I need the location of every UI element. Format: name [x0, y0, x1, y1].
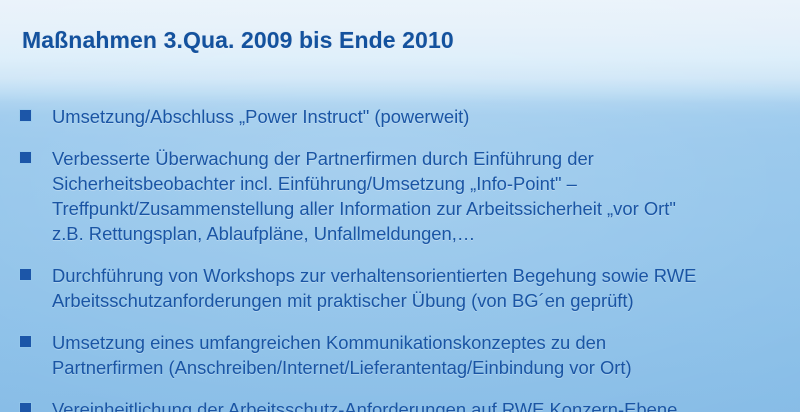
bullet-item: Umsetzung/Abschluss „Power Instruct" (po… — [0, 104, 800, 129]
bullet-item: Durchführung von Workshops zur verhalten… — [0, 263, 800, 313]
bullet-text: Umsetzung/Abschluss „Power Instruct" (po… — [52, 104, 800, 129]
bullet-text-line: Umsetzung/Abschluss „Power Instruct" (po… — [52, 104, 800, 129]
bullet-text-line: Durchführung von Workshops zur verhalten… — [52, 263, 800, 288]
presentation-slide: Maßnahmen 3.Qua. 2009 bis Ende 2010 Umse… — [0, 0, 800, 412]
square-bullet-icon — [20, 336, 31, 347]
bullet-text: Umsetzung eines umfangreichen Kommunikat… — [52, 330, 800, 380]
square-bullet-icon — [20, 110, 31, 121]
bullet-text: Durchführung von Workshops zur verhalten… — [52, 263, 800, 313]
slide-title: Maßnahmen 3.Qua. 2009 bis Ende 2010 — [22, 27, 454, 54]
bullet-text: Vereinheitlichung der Arbeitsschutz-Anfo… — [52, 397, 800, 412]
bullet-text-line: Umsetzung eines umfangreichen Kommunikat… — [52, 330, 800, 355]
square-bullet-icon — [20, 269, 31, 280]
bullet-text-line: Partnerfirmen (Anschreiben/Internet/Lief… — [52, 355, 800, 380]
bullet-text-line: Verbesserte Überwachung der Partnerfirme… — [52, 146, 800, 171]
bullet-item: Vereinheitlichung der Arbeitsschutz-Anfo… — [0, 397, 800, 412]
square-bullet-icon — [20, 403, 31, 412]
bullet-text: Verbesserte Überwachung der Partnerfirme… — [52, 146, 800, 246]
bullet-item: Verbesserte Überwachung der Partnerfirme… — [0, 146, 800, 246]
square-bullet-icon — [20, 152, 31, 163]
bullet-list: Umsetzung/Abschluss „Power Instruct" (po… — [0, 104, 800, 412]
bullet-text-line: Arbeitsschutzanforderungen mit praktisch… — [52, 288, 800, 313]
bullet-text-line: Sicherheitsbeobachter incl. Einführung/U… — [52, 171, 800, 196]
bullet-item: Umsetzung eines umfangreichen Kommunikat… — [0, 330, 800, 380]
bullet-text-line: Vereinheitlichung der Arbeitsschutz-Anfo… — [52, 397, 800, 412]
bullet-text-line: Treffpunkt/Zusammenstellung aller Inform… — [52, 196, 800, 221]
bullet-text-line: z.B. Rettungsplan, Ablaufpläne, Unfallme… — [52, 221, 800, 246]
